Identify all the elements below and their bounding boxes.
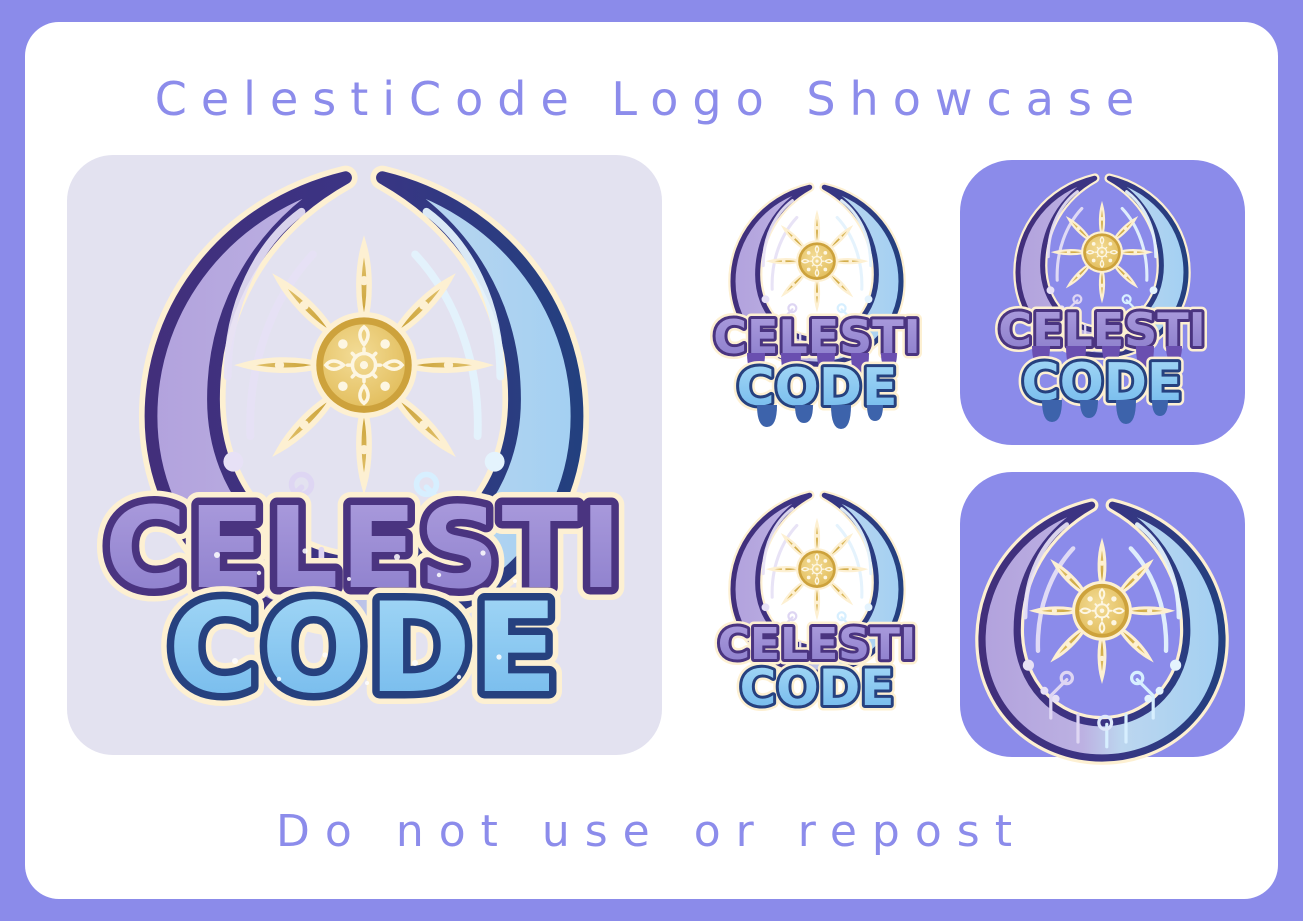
variant-full-lockup-app-icon[interactable]: CELESTI CELESTI CELESTI CODE CODE CODE (960, 160, 1245, 445)
svg-text:CODE: CODE (168, 577, 560, 721)
variant-mark-only-app-icon[interactable] (960, 472, 1245, 757)
variant-artwork-full-white: CELESTI CELESTI CELESTI CODE CODE CODE (695, 177, 940, 432)
variant-artwork-mark-app (960, 472, 1245, 757)
wordmark-code: CODE CODE CODE (740, 659, 895, 717)
variant-artwork-clean-white: CELESTI CELESTI CELESTI CODE CODE CODE (695, 487, 940, 722)
variant-clean-lockup-on-white[interactable]: CELESTI CELESTI CELESTI CODE CODE CODE (695, 487, 940, 722)
page-title: CelestiCode Logo Showcase (25, 72, 1278, 126)
hero-logo-panel[interactable]: CELESTI CELESTI CELESTI CODE CODE CODE (67, 155, 662, 755)
variant-artwork-full-app: CELESTI CELESTI CELESTI CODE CODE CODE (960, 160, 1245, 445)
showcase-card: CelestiCode Logo Showcase CELESTI CELEST… (25, 22, 1278, 899)
footer-note: Do not use or repost (25, 806, 1278, 857)
variant-full-lockup-on-white[interactable]: CELESTI CELESTI CELESTI CODE CODE CODE (695, 177, 940, 432)
svg-text:CODE: CODE (740, 659, 895, 717)
wordmark-code: CODE CODE CODE (168, 577, 560, 721)
hero-logo-artwork: CELESTI CELESTI CELESTI CODE CODE CODE (67, 155, 662, 755)
crescent-moon-and-sun-icon (982, 505, 1222, 758)
